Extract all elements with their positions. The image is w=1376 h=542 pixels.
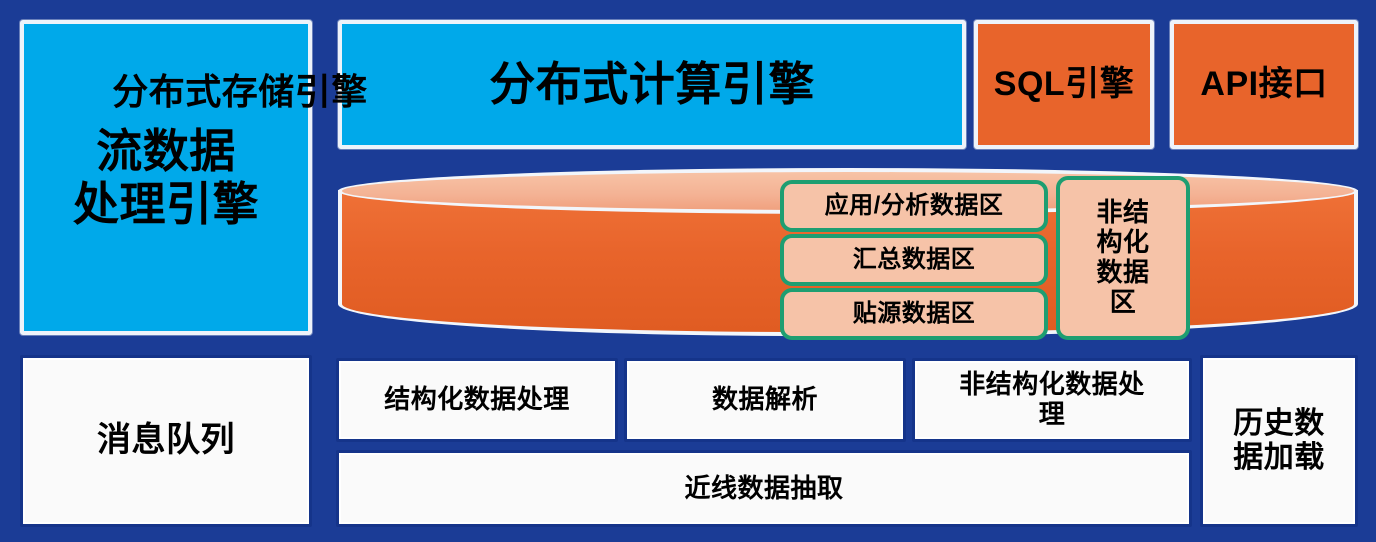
history-data-loading-box[interactable]: 历史数 据加载 bbox=[1200, 355, 1358, 527]
data-zone-label: 汇总数据区 bbox=[853, 246, 976, 274]
unstructured-data-processing-label: 非结构化数据处 理 bbox=[959, 370, 1145, 430]
sql-engine-label: SQL引擎 bbox=[994, 65, 1134, 104]
distributed-computing-engine-label: 分布式计算引擎 bbox=[489, 58, 815, 111]
data-zone-label: 贴源数据区 bbox=[853, 300, 976, 328]
data-zone-chip-source[interactable]: 贴源数据区 bbox=[780, 288, 1048, 340]
data-zone-chip-summary[interactable]: 汇总数据区 bbox=[780, 234, 1048, 286]
data-parsing-box[interactable]: 数据解析 bbox=[624, 358, 906, 442]
data-zone-label: 应用/分析数据区 bbox=[825, 192, 1004, 220]
sql-engine-box[interactable]: SQL引擎 bbox=[974, 20, 1154, 149]
api-interface-box[interactable]: API接口 bbox=[1170, 20, 1358, 149]
api-interface-label: API接口 bbox=[1200, 65, 1327, 104]
data-parsing-label: 数据解析 bbox=[712, 385, 818, 415]
message-queue-box[interactable]: 消息队列 bbox=[20, 355, 312, 527]
data-zone-chip-unstructured[interactable]: 非结 构化 数据 区 bbox=[1056, 176, 1190, 340]
near-line-data-extraction-label: 近线数据抽取 bbox=[684, 474, 843, 504]
unstructured-data-processing-box[interactable]: 非结构化数据处 理 bbox=[912, 358, 1192, 442]
unstructured-data-zone-label: 非结 构化 数据 区 bbox=[1096, 198, 1149, 318]
structured-data-processing-label: 结构化数据处理 bbox=[384, 385, 570, 415]
message-queue-label: 消息队列 bbox=[97, 421, 235, 460]
stream-processing-engine-label: 流数据 处理引擎 bbox=[73, 125, 259, 231]
near-line-data-extraction-box[interactable]: 近线数据抽取 bbox=[336, 450, 1192, 527]
structured-data-processing-box[interactable]: 结构化数据处理 bbox=[336, 358, 618, 442]
architecture-diagram: 流数据 处理引擎 分布式计算引擎 SQL引擎 API接口 分布式存储引擎 应用/… bbox=[0, 0, 1376, 542]
distributed-storage-engine-label-wrap: 分布式存储引擎 bbox=[40, 52, 440, 132]
distributed-storage-engine-label: 分布式存储引擎 bbox=[112, 71, 368, 112]
history-data-loading-label: 历史数 据加载 bbox=[1233, 407, 1325, 476]
data-zone-chip-application-analysis[interactable]: 应用/分析数据区 bbox=[780, 180, 1048, 232]
